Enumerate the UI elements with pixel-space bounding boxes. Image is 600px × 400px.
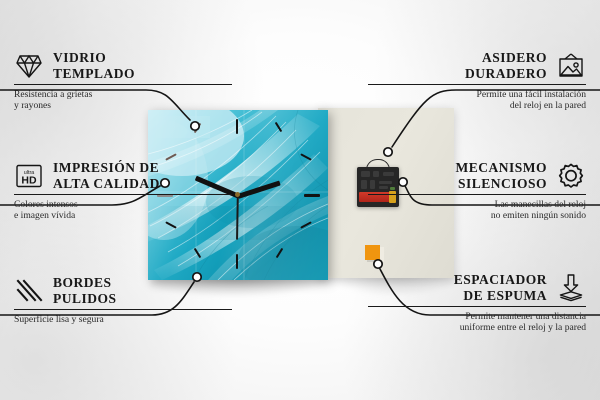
- foam-spacer-piece: [365, 245, 380, 260]
- feature-description: Permite una fácil instalación del reloj …: [368, 89, 586, 112]
- polished-edges-icon: [14, 276, 44, 306]
- feature-title: ASIDERO DURADERO: [465, 50, 547, 81]
- feature-title: IMPRESIÓN DE ALTA CALIDAD: [53, 160, 160, 191]
- feature-mecanismo-silencioso: MECANISMO SILENCIOSO Las manecillas del …: [368, 160, 586, 222]
- feature-divider: [368, 84, 586, 85]
- clock-center-pin: [235, 192, 240, 197]
- feature-header: VIDRIO TEMPLADO: [14, 50, 232, 81]
- feature-header: ultra HD IMPRESIÓN DE ALTA CALIDAD: [14, 160, 232, 191]
- ultra-hd-big-label: HD: [21, 174, 37, 186]
- clock-tick: [236, 119, 238, 134]
- feature-title: MECANISMO SILENCIOSO: [456, 160, 548, 191]
- clock-tick: [304, 194, 320, 197]
- gear-icon: [556, 161, 586, 191]
- feature-espaciador-de-espuma: ESPACIADOR DE ESPUMA Permite mantener un…: [368, 272, 586, 334]
- ultra-hd-icon: ultra HD: [14, 161, 44, 191]
- feature-header: ESPACIADOR DE ESPUMA: [368, 272, 586, 303]
- feature-impresion-alta-calidad: ultra HD IMPRESIÓN DE ALTA CALIDAD Color…: [14, 160, 232, 222]
- foam-spacer-icon: [556, 273, 586, 303]
- feature-bordes-pulidos: BORDES PULIDOS Superficie lisa y segura: [14, 275, 232, 325]
- infographic-canvas: VIDRIO TEMPLADO Resistencia a grietas y …: [0, 0, 600, 400]
- feature-description: Las manecillas del reloj no emiten ningú…: [368, 199, 586, 222]
- foam-spacer-side: [380, 247, 384, 262]
- feature-divider: [14, 194, 232, 195]
- wall-hanger-icon: [556, 51, 586, 81]
- feature-vidrio-templado: VIDRIO TEMPLADO Resistencia a grietas y …: [14, 50, 232, 112]
- feature-title: VIDRIO TEMPLADO: [53, 50, 135, 81]
- feature-divider: [368, 194, 586, 195]
- feature-title: ESPACIADOR DE ESPUMA: [454, 272, 547, 303]
- feature-description: Resistencia a grietas y rayones: [14, 89, 232, 112]
- clock-tick: [236, 254, 238, 269]
- feature-description: Superficie lisa y segura: [14, 314, 232, 325]
- feature-divider: [14, 309, 232, 310]
- feature-description: Colores intensos e imagen vívida: [14, 199, 232, 222]
- feature-divider: [14, 84, 232, 85]
- feature-title: BORDES PULIDOS: [53, 275, 117, 306]
- feature-header: ASIDERO DURADERO: [368, 50, 586, 81]
- feature-header: BORDES PULIDOS: [14, 275, 232, 306]
- feature-asidero-duradero: ASIDERO DURADERO Permite una fácil insta…: [368, 50, 586, 112]
- diamond-icon: [14, 51, 44, 81]
- feature-description: Permite mantener una distancia uniforme …: [368, 311, 586, 334]
- feature-header: MECANISMO SILENCIOSO: [368, 160, 586, 191]
- feature-divider: [368, 306, 586, 307]
